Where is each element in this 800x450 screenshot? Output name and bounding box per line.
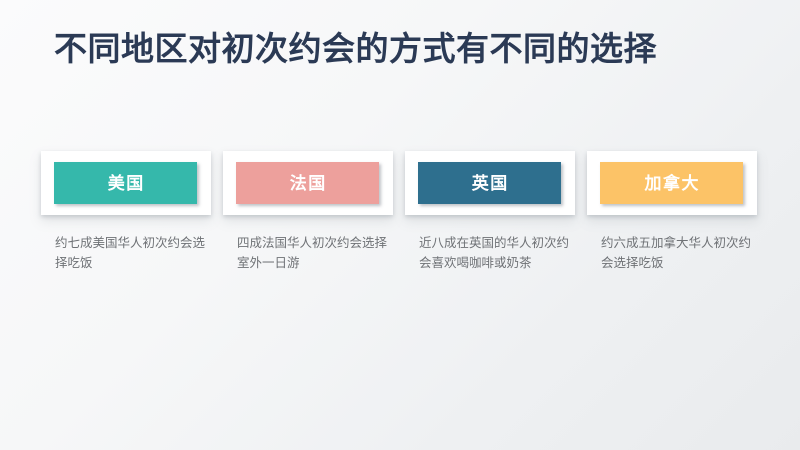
card-frame: 美国: [41, 151, 211, 215]
card-frame: 法国: [223, 151, 393, 215]
slide-canvas: 不同地区对初次约会的方式有不同的选择 美国 约七成美国华人初次约会选择吃饭 法国: [0, 0, 800, 450]
card-frame-inner: 美国: [54, 162, 197, 204]
region-caption: 约六成五加拿大华人初次约会选择吃饭: [587, 233, 757, 274]
region-label: 法国: [288, 175, 327, 192]
region-band: 法国: [236, 162, 379, 204]
region-label: 美国: [106, 175, 145, 192]
card-frame: 英国: [405, 151, 575, 215]
region-card-uk[interactable]: 英国 近八成在英国的华人初次约会喜欢喝咖啡或奶茶: [405, 151, 575, 274]
card-frame: 加拿大: [587, 151, 757, 215]
region-card-france[interactable]: 法国 四成法国华人初次约会选择室外一日游: [223, 151, 393, 274]
region-band: 美国: [54, 162, 197, 204]
card-frame-inner: 英国: [418, 162, 561, 204]
region-label: 加拿大: [643, 175, 700, 192]
card-frame-inner: 法国: [236, 162, 379, 204]
region-caption: 约七成美国华人初次约会选择吃饭: [41, 233, 211, 274]
page-title: 不同地区对初次约会的方式有不同的选择: [54, 28, 657, 71]
region-label: 英国: [470, 175, 509, 192]
region-card-usa[interactable]: 美国 约七成美国华人初次约会选择吃饭: [41, 151, 211, 274]
region-caption: 四成法国华人初次约会选择室外一日游: [223, 233, 393, 274]
region-band: 英国: [418, 162, 561, 204]
card-frame-inner: 加拿大: [600, 162, 743, 204]
region-card-canada[interactable]: 加拿大 约六成五加拿大华人初次约会选择吃饭: [587, 151, 757, 274]
region-caption: 近八成在英国的华人初次约会喜欢喝咖啡或奶茶: [405, 233, 575, 274]
region-card-row: 美国 约七成美国华人初次约会选择吃饭 法国 四成法国华人初次约会选择室外一日游: [41, 151, 759, 274]
region-band: 加拿大: [600, 162, 743, 204]
